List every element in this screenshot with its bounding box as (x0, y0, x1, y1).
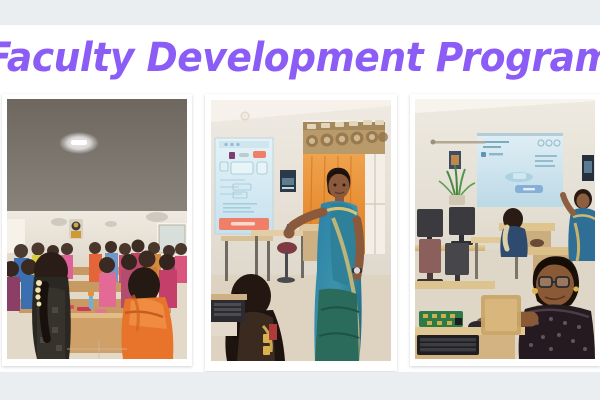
photo-gallery (0, 91, 600, 372)
seminar-hall-illustration (7, 99, 187, 359)
photo-frame-2 (211, 100, 391, 361)
computer-lab-illustration (415, 99, 595, 359)
slide-canvas: Faculty Development Program (0, 0, 600, 400)
top-background-band (0, 0, 600, 25)
presenter-photo (211, 100, 391, 361)
photo-card-3[interactable] (410, 94, 600, 366)
bottom-background-band (0, 372, 600, 400)
presenter-illustration (211, 100, 391, 361)
photo-frame-3 (415, 99, 595, 359)
title-area: Faculty Development Program (0, 25, 600, 91)
photo-card-2[interactable] (205, 94, 397, 371)
photo-card-1[interactable] (2, 94, 192, 366)
seminar-hall-photo (7, 99, 187, 359)
page-title: Faculty Development Program (0, 38, 600, 78)
computer-lab-photo (415, 99, 595, 359)
photo-frame-1 (7, 99, 187, 359)
